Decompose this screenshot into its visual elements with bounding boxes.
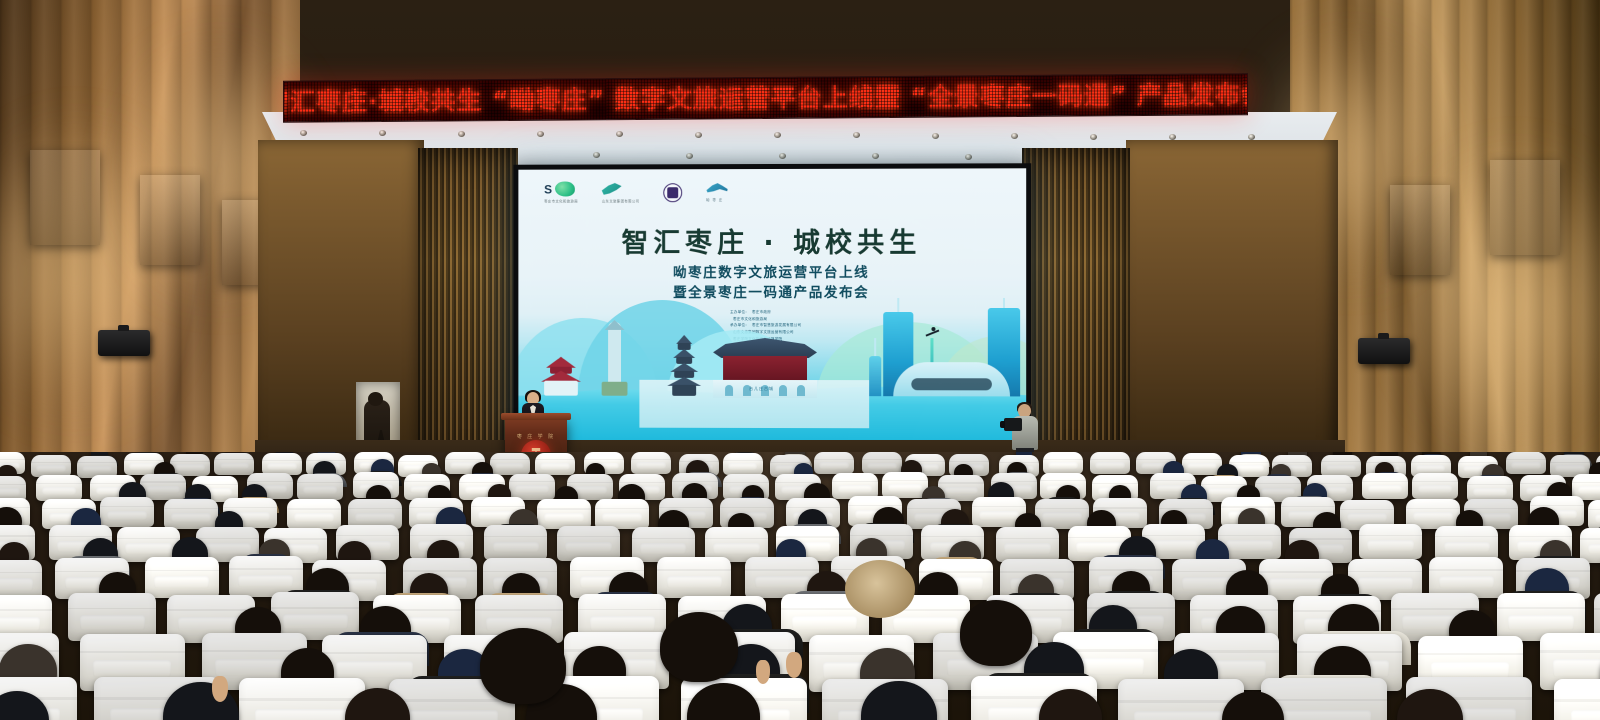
audience-seat [1429, 557, 1503, 598]
audience-seat [1043, 452, 1083, 474]
audience-seat [996, 527, 1059, 562]
fluted-wood-left [418, 148, 518, 470]
audience-seat [631, 452, 671, 474]
audience-seat [484, 525, 547, 560]
audience-seat [1588, 500, 1600, 530]
audience-seat [832, 473, 878, 499]
soffit-downlight [300, 130, 307, 136]
audience-seat [1090, 452, 1130, 474]
raised-hand [756, 660, 770, 684]
wall-panel-block-2 [140, 175, 200, 265]
modern-tower-1b-icon [869, 356, 881, 396]
fur-hooded-coat [845, 560, 915, 618]
logo-2-sub: 山东文旅集团有限公司 [602, 198, 640, 203]
audience-seat [882, 472, 928, 498]
logo-blue-wave-icon: 呦 枣 庄 [706, 181, 728, 203]
podium-label: 枣 庄 学 院 [505, 433, 567, 440]
soffit-downlight [458, 131, 465, 137]
audience-seat [164, 499, 218, 529]
audience-seat [1359, 524, 1422, 559]
audience-seat [1467, 476, 1513, 502]
raised-hand [786, 652, 802, 678]
led-banner: 智汇枣庄·城校共生 “呦枣庄” 数字文旅运营平台上线暨 “全景枣庄一码通” 产品… [283, 73, 1248, 123]
slide-logo-row: S 枣庄市文化和旅游局 山东文旅集团有限公司 呦 枣 庄 [544, 181, 728, 203]
audience-seat [1412, 473, 1458, 499]
projection-screen: S 枣庄市文化和旅游局 山东文旅集团有限公司 呦 枣 庄 智汇枣庄 · 城校共生… [518, 168, 1026, 448]
audience-seat [297, 474, 343, 500]
audience-seat [214, 453, 254, 475]
audience-seat [1035, 499, 1089, 529]
logo-circular-seal-icon [663, 181, 682, 203]
wall-panel-block-4 [1490, 160, 1560, 255]
audience-seat [509, 474, 555, 500]
diver-figure-icon [925, 326, 939, 340]
front-row-head [660, 612, 738, 682]
front-wall-panel-right [1126, 140, 1338, 472]
audience-seat [36, 475, 82, 501]
conference-hall-photo: 智汇枣庄·城校共生 “呦枣庄” 数字文旅运营平台上线暨 “全景枣庄一码通” 产品… [0, 0, 1600, 720]
audience-seat [1321, 455, 1361, 477]
audience-seat [1362, 473, 1408, 499]
audience-seat [814, 452, 854, 474]
wall-speaker-right-far [1358, 338, 1410, 364]
led-banner-text: 智汇枣庄·城校共生 “呦枣庄” 数字文旅运营平台上线暨 “全景枣庄一码通” 产品… [283, 82, 1248, 115]
stadium-dome-icon [893, 362, 1010, 396]
white-pagoda-icon [602, 322, 628, 396]
cityscape-illustration: 台儿庄古城 [518, 298, 1026, 449]
logo-4-sub: 呦 枣 庄 [706, 197, 728, 202]
slide-title: 智汇枣庄 · 城校共生 [518, 221, 1026, 261]
wall-panel-block-1 [30, 150, 100, 245]
audience-seat [723, 453, 763, 475]
front-row-head [480, 628, 566, 704]
audience-seat [287, 499, 341, 529]
illustration-label: 台儿庄古城 [749, 386, 774, 392]
audience-seat [140, 474, 186, 500]
soffit-downlight [1169, 134, 1176, 140]
soffit-downlight [686, 153, 693, 159]
audience-seat [1506, 452, 1546, 474]
soffit-downlight [932, 133, 939, 139]
audience-seat [595, 499, 649, 529]
wall-panel-block-5 [1390, 185, 1450, 275]
audience-seat [657, 557, 731, 598]
audience-seat [100, 497, 154, 527]
audience-seat [862, 452, 902, 474]
logo-1-sub: 枣庄市文化和旅游局 [544, 198, 578, 203]
front-row-head [960, 600, 1032, 666]
audience-seat [490, 453, 530, 475]
audience-seat [31, 455, 71, 477]
logo-s-green-blob-icon: S 枣庄市文化和旅游局 [544, 181, 578, 203]
soffit-downlight [965, 154, 972, 160]
audience-seat [145, 557, 219, 598]
podium-top-surface [501, 413, 571, 420]
soffit-downlight [537, 131, 544, 137]
wall-speaker-left-far [98, 330, 150, 356]
video-camera-icon [1004, 418, 1022, 431]
audience-seat [262, 453, 302, 475]
audience-seat [537, 499, 591, 529]
audience-seat [1554, 679, 1600, 720]
soffit-downlight [1090, 134, 1097, 140]
projection-screen-frame: S 枣庄市文化和旅游局 山东文旅集团有限公司 呦 枣 庄 智汇枣庄 · 城校共生… [513, 163, 1031, 455]
layered-pagoda-icon [667, 334, 701, 396]
audience-seat [557, 526, 620, 561]
audience-area [0, 452, 1600, 720]
raised-hand [212, 676, 228, 702]
soffit-downlight [779, 153, 786, 159]
slide-subtitle-line1: 呦枣庄数字文旅运营平台上线 [518, 261, 1026, 281]
red-pagoda-icon [540, 354, 582, 396]
soffit-downlight [695, 132, 702, 138]
audience-seat [535, 453, 575, 475]
logo-teal-fish-icon: 山东文旅集团有限公司 [602, 181, 640, 203]
audience-seat [1435, 526, 1498, 561]
